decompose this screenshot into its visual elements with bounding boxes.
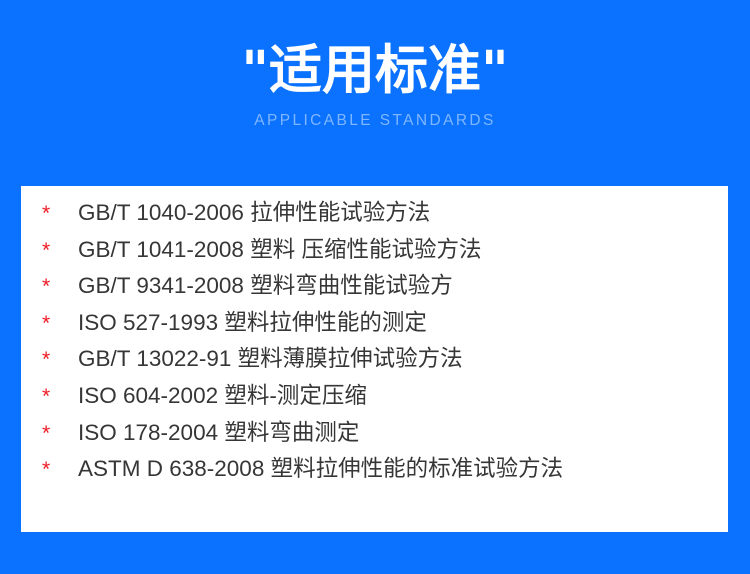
asterisk-icon: * <box>42 349 78 370</box>
asterisk-icon: * <box>42 240 78 261</box>
list-item-label: GB/T 13022-91 塑料薄膜拉伸试验方法 <box>78 348 463 371</box>
page-subtitle: APPLICABLE STANDARDS <box>254 112 496 130</box>
asterisk-icon: * <box>42 423 78 444</box>
list-item: * GB/T 1041-2008 塑料 压缩性能试验方法 <box>21 239 728 276</box>
applicable-standards-banner: "适用标准" APPLICABLE STANDARDS * GB/T 1040-… <box>0 0 750 574</box>
list-item-label: GB/T 1041-2008 塑料 压缩性能试验方法 <box>78 239 481 262</box>
list-item-label: ASTM D 638-2008 塑料拉伸性能的标准试验方法 <box>78 458 563 481</box>
list-item: * ASTM D 638-2008 塑料拉伸性能的标准试验方法 <box>21 458 728 495</box>
list-item: * ISO 527-1993 塑料拉伸性能的测定 <box>21 312 728 349</box>
banner-header: "适用标准" APPLICABLE STANDARDS <box>0 0 750 186</box>
asterisk-icon: * <box>42 313 78 334</box>
list-item-label: ISO 178-2004 塑料弯曲测定 <box>78 422 359 445</box>
list-item-label: ISO 604-2002 塑料-测定压缩 <box>78 385 367 408</box>
list-item: * GB/T 13022-91 塑料薄膜拉伸试验方法 <box>21 348 728 385</box>
page-title: "适用标准" <box>241 43 508 99</box>
asterisk-icon: * <box>42 203 78 224</box>
list-item: * ISO 178-2004 塑料弯曲测定 <box>21 422 728 459</box>
list-item-label: ISO 527-1993 塑料拉伸性能的测定 <box>78 312 427 335</box>
list-item: * GB/T 9341-2008 塑料弯曲性能试验方 <box>21 275 728 312</box>
asterisk-icon: * <box>42 386 78 407</box>
list-item-label: GB/T 9341-2008 塑料弯曲性能试验方 <box>78 275 453 298</box>
standards-list: * GB/T 1040-2006 拉伸性能试验方法 * GB/T 1041-20… <box>21 202 728 495</box>
list-item-label: GB/T 1040-2006 拉伸性能试验方法 <box>78 202 430 225</box>
list-item: * GB/T 1040-2006 拉伸性能试验方法 <box>21 202 728 239</box>
asterisk-icon: * <box>42 276 78 297</box>
asterisk-icon: * <box>42 459 78 480</box>
standards-panel: * GB/T 1040-2006 拉伸性能试验方法 * GB/T 1041-20… <box>21 186 728 532</box>
list-item: * ISO 604-2002 塑料-测定压缩 <box>21 385 728 422</box>
